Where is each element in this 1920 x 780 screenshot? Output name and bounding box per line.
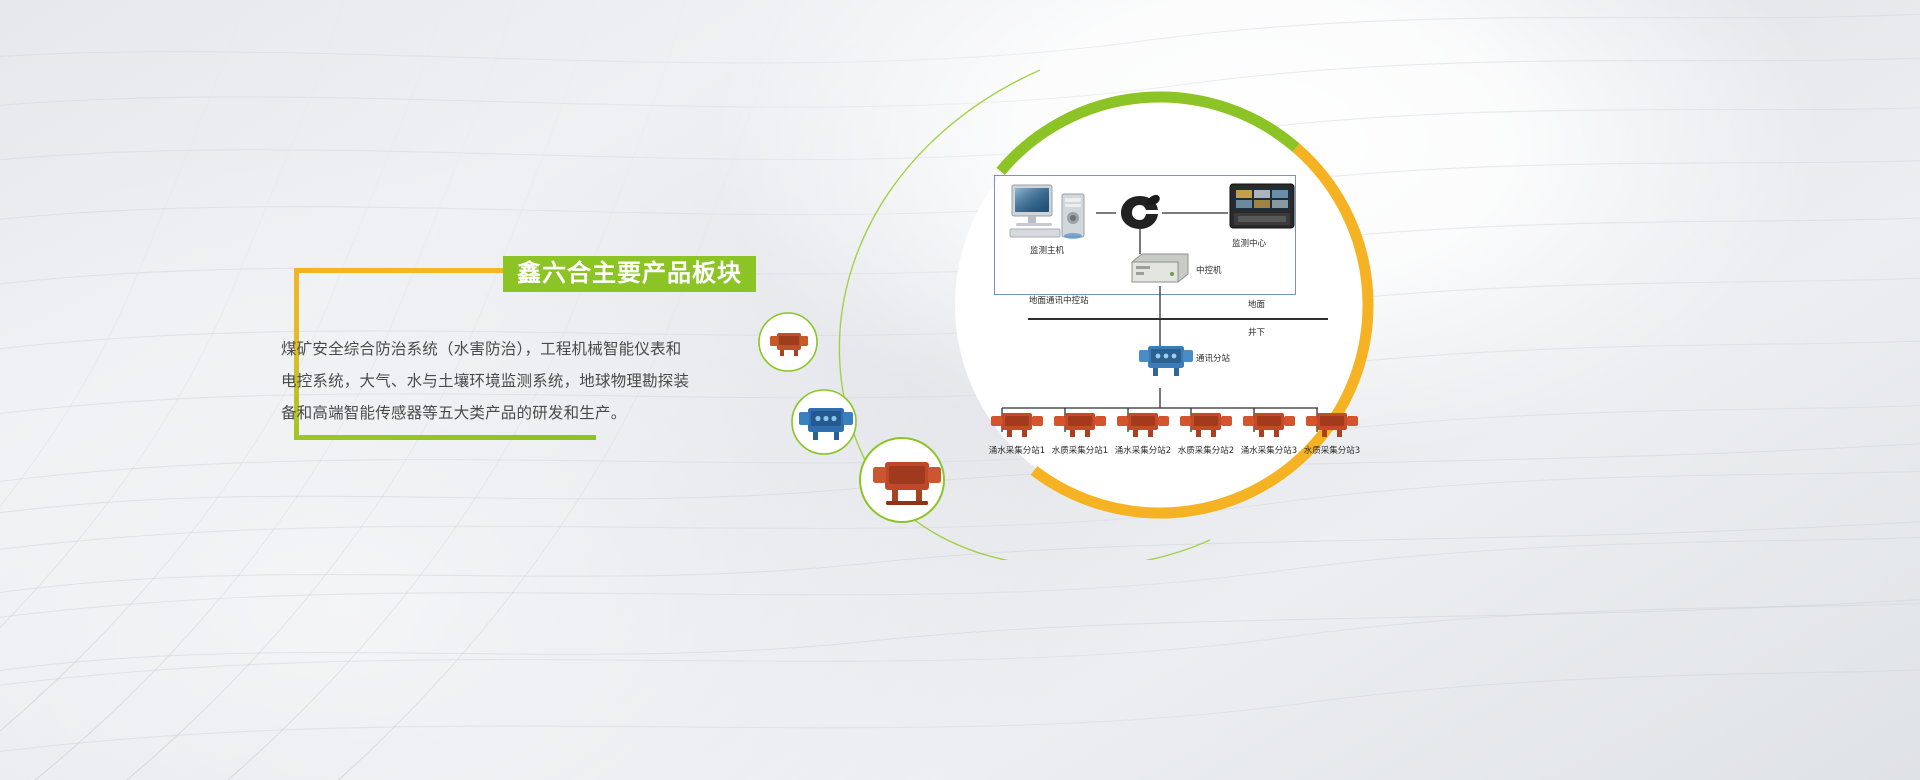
- substation-device-icon: [1305, 408, 1359, 440]
- substation-label: 涌水采集分站2: [1108, 444, 1178, 456]
- description-line-2: 电控系统，大气、水与土壤环境监测系统，地球物理勘探装: [281, 366, 711, 398]
- substation-label: 水质采集分站1: [1045, 444, 1115, 456]
- substation-node: 水质采集分站1: [1053, 408, 1107, 445]
- substation-node: 涌水采集分站2: [1116, 408, 1170, 445]
- substation-device-icon: [1242, 408, 1296, 440]
- description-block: 煤矿安全综合防治系统（水害防治），工程机械智能仪表和 电控系统，大气、水与土壤环…: [281, 334, 711, 430]
- satellite-device-blue: [798, 400, 854, 444]
- substation-label: 涌水采集分站3: [1234, 444, 1304, 456]
- substation-device-icon: [1116, 408, 1170, 440]
- substation-label: 水质采集分站3: [1297, 444, 1367, 456]
- substation-node: 涌水采集分站3: [1242, 408, 1296, 445]
- substation-node: 水质采集分站2: [1179, 408, 1233, 445]
- label-comm-substation: 通讯分站: [1196, 352, 1230, 364]
- substation-device-icon: [1053, 408, 1107, 440]
- left-panel-border-bottom: [294, 435, 596, 440]
- section-title-banner: 鑫六合主要产品板块: [503, 256, 756, 292]
- substation-device-icon: [990, 408, 1044, 440]
- substation-device-icon: [1179, 408, 1233, 440]
- substation-node: 水质采集分站3: [1305, 408, 1359, 445]
- satellite-device-orange-large: [872, 452, 942, 510]
- substation-node: 涌水采集分站1: [990, 408, 1044, 445]
- comm-substation-icon: [1138, 340, 1194, 380]
- page-title: 鑫六合主要产品板块: [517, 262, 742, 286]
- substation-label: 水质采集分站2: [1171, 444, 1241, 456]
- description-line-3: 备和高端智能传感器等五大类产品的研发和生产。: [281, 398, 711, 430]
- description-line-1: 煤矿安全综合防治系统（水害防治），工程机械智能仪表和: [281, 334, 711, 366]
- substation-label: 涌水采集分站1: [982, 444, 1052, 456]
- satellite-device-orange-small: [768, 324, 810, 362]
